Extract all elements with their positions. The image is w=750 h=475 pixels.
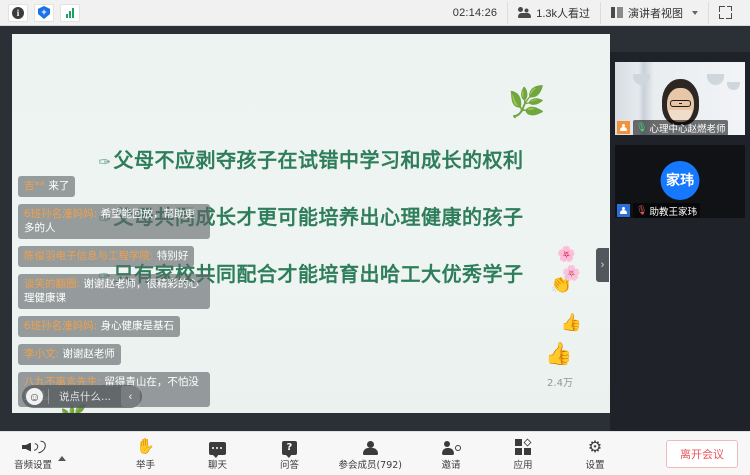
shield-icon[interactable] [34, 4, 54, 22]
chat-author: 吉** [24, 180, 48, 192]
chat-input[interactable]: 说点什么... [48, 389, 121, 404]
chat-author: 6班孙名潼妈妈: [24, 320, 97, 332]
avatar-initials: 家玮 [661, 160, 700, 199]
view-mode-label: 演讲者视图 [628, 5, 683, 21]
bottom-toolbar: 音频设置 ✋ 举手 聊天 ? 问答 参会成员(792) [0, 431, 750, 475]
avatar [617, 204, 630, 217]
participants-label: 参会成员(792) [338, 457, 402, 471]
people-icon [518, 7, 531, 18]
view-mode-selector[interactable]: 演讲者视图 [600, 2, 708, 24]
meeting-stage: 🌿 🌿 🌸 ✑父母不应剥夺孩子在试错中学习和成长的权利 ✑父母共同成长才更可能培… [0, 26, 750, 431]
collapse-panel-handle[interactable]: › [596, 248, 609, 282]
tile-name-bar: 🎙 助教王家玮 [615, 203, 745, 218]
mic-off-icon: 🎙 [636, 206, 647, 216]
top-bar-left-icons: i [0, 4, 80, 22]
gear-icon: ⚙ [588, 437, 602, 455]
chat-text: 来了 [48, 180, 69, 192]
avatar [617, 121, 630, 134]
fullscreen-button[interactable] [708, 2, 742, 24]
chat-author: 陈俊羽电子信息与工程学院: [24, 250, 154, 262]
chevron-up-icon[interactable] [58, 456, 66, 461]
flower-reaction-icon: 🌸 [557, 245, 576, 263]
participant-name-text: 助教王家玮 [649, 204, 697, 218]
video-tile-assistant[interactable]: 家玮 🎙 助教王家玮 [615, 145, 745, 218]
leaf-decoration-icon: 🌿 [508, 88, 545, 118]
chat-text: 谢谢赵老师 [62, 348, 115, 360]
chat-message: 6班孙名潼妈妈: 希望能回放，帮助更多的人 [18, 204, 210, 239]
fullscreen-icon [719, 6, 732, 19]
invite-icon [442, 437, 461, 455]
clap-reaction-icon: 👏 [551, 275, 572, 295]
settings-button[interactable]: ⚙ 设置 [572, 432, 618, 475]
chat-button[interactable]: 聊天 [194, 432, 240, 475]
chat-composer[interactable]: ☺ 说点什么... ‹ [22, 385, 142, 408]
chat-message: 李小文: 谢谢赵老师 [18, 344, 121, 365]
apps-icon [515, 437, 532, 455]
slide-line: ✑父母不应剥夺孩子在试错中学习和成长的权利 [98, 144, 523, 173]
chevron-down-icon [692, 11, 698, 15]
toolbar-center-group: ✋ 举手 聊天 ? 问答 参会成员(792) 邀请 [122, 432, 618, 475]
slide-bullet-icon: ✑ [98, 153, 111, 171]
audio-settings-button[interactable]: 音频设置 [10, 432, 66, 475]
signal-bars-icon[interactable] [60, 4, 80, 22]
chat-icon [209, 437, 226, 455]
meeting-timer: 02:14:26 [443, 2, 507, 24]
settings-label: 设置 [585, 457, 604, 471]
participant-name: 🎙 心理中心赵燃老师 [633, 120, 728, 136]
qa-label: 问答 [280, 457, 299, 471]
like-count-text: 2.4万 [540, 374, 580, 389]
info-icon[interactable]: i [8, 4, 28, 22]
emoji-icon[interactable]: ☺ [26, 388, 43, 405]
thumbsup-reaction-icon: 👍 [561, 313, 582, 333]
chat-author: 李小文: [24, 348, 59, 360]
like-button[interactable]: 👍 2.4万 [540, 335, 580, 389]
chat-message: 谈笑的翻圈: 谢谢赵老师，很精彩的心理健康课 [18, 274, 210, 309]
participant-name: 🎙 助教王家玮 [633, 203, 700, 219]
participants-button[interactable]: 参会成员(792) [338, 432, 402, 475]
thumbs-up-icon: 👍 [540, 335, 578, 373]
timer-text: 02:14:26 [453, 7, 497, 19]
chat-message: 吉** 来了 [18, 176, 75, 197]
invite-label: 邀请 [441, 457, 460, 471]
speaker-icon [22, 437, 44, 455]
viewer-count[interactable]: 1.3k人看过 [507, 2, 600, 24]
raise-hand-button[interactable]: ✋ 举手 [122, 432, 168, 475]
apps-label: 应用 [513, 457, 532, 471]
shared-screen[interactable]: 🌿 🌿 🌸 ✑父母不应剥夺孩子在试错中学习和成长的权利 ✑父母共同成长才更可能培… [12, 34, 610, 413]
chat-author: 谈笑的翻圈: [24, 278, 80, 290]
chat-message: 陈俊羽电子信息与工程学院: 特别好 [18, 246, 194, 267]
tile-name-bar: 🎙 心理中心赵燃老师 [615, 120, 745, 135]
participants-icon [362, 437, 378, 455]
qa-button[interactable]: ? 问答 [266, 432, 312, 475]
raise-hand-label: 举手 [136, 457, 155, 471]
audio-settings-tool[interactable]: 音频设置 [10, 432, 56, 475]
qa-icon: ? [282, 437, 297, 455]
chat-overlay-list: 吉** 来了 6班孙名潼妈妈: 希望能回放，帮助更多的人 陈俊羽电子信息与工程学… [18, 176, 228, 407]
chat-message: 6班孙名潼妈妈: 身心健康是基石 [18, 316, 180, 337]
chat-label: 聊天 [208, 457, 227, 471]
leave-meeting-button[interactable]: 离开会议 [666, 440, 738, 468]
participant-video-panel: › 🎙 心理中 [610, 52, 750, 457]
layout-icon [611, 7, 623, 18]
video-tile-speaker[interactable]: 🎙 心理中心赵燃老师 [615, 62, 745, 135]
slide-line-text: 父母不应剥夺孩子在试错中学习和成长的权利 [114, 148, 524, 172]
collapse-chat-icon[interactable]: ‹ [121, 386, 140, 407]
participant-name-text: 心理中心赵燃老师 [649, 121, 725, 135]
chat-author: 6班孙名潼妈妈: [24, 208, 97, 220]
viewer-count-text: 1.3k人看过 [536, 5, 590, 21]
person-silhouette [662, 79, 699, 125]
audio-settings-label: 音频设置 [14, 457, 52, 471]
invite-button[interactable]: 邀请 [428, 432, 474, 475]
raise-hand-icon: ✋ [136, 437, 155, 455]
apps-button[interactable]: 应用 [500, 432, 546, 475]
chat-text: 身心健康是基石 [101, 320, 175, 332]
top-bar: i 02:14:26 1.3k人看过 演讲者视图 [0, 0, 750, 26]
glasses-icon [670, 100, 691, 107]
chat-text: 特别好 [157, 250, 189, 262]
mic-on-icon: 🎙 [636, 123, 647, 133]
top-bar-right-controls: 02:14:26 1.3k人看过 演讲者视图 [443, 0, 750, 26]
meeting-window: i 02:14:26 1.3k人看过 演讲者视图 [0, 0, 750, 475]
